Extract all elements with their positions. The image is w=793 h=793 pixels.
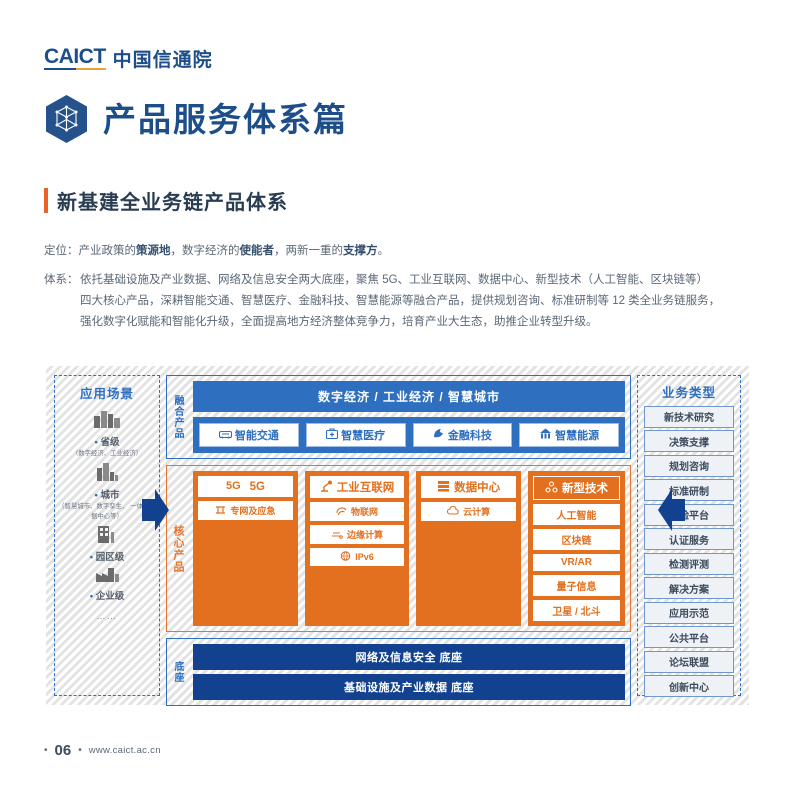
business-type-item[interactable]: 创新中心 [644,675,734,697]
core-item-label: 区块链 [561,532,591,547]
brand-abbr: CAICT [44,46,106,70]
edge-icon [331,529,343,541]
positioning-paragraph: 定位：产业政策的策源地，数字经济的使能者，两新一重的支撑方。 [44,241,389,262]
fusion-pill-label: 智慧医疗 [341,427,385,443]
core-item-label: 人工智能 [556,507,596,522]
core-column-header[interactable]: 5G 5G [198,476,293,497]
fusion-pill-fintech[interactable]: 金融科技 [413,423,513,447]
business-type-item[interactable]: 解决方案 [644,577,734,599]
business-type-item[interactable]: 新技术研究 [644,406,734,428]
central-stack: 融合产品 数字经济 / 工业经济 / 智慧城市 智能交通 智慧医疗 [166,375,631,696]
core-column-newtech: 新型技术 人工智能 区块链 VR/AR 量子信息 卫星 / 北斗 [528,471,625,626]
section-heading: 新基建全业务链产品体系 [44,186,288,215]
core-vertical-label: 核心产品 [167,466,188,631]
core-item[interactable]: 边缘计算 [310,525,405,544]
footer-url: www.caict.ac.cn [89,745,161,756]
business-type-item[interactable]: 公共平台 [644,626,734,648]
core-item[interactable]: 卫星 / 北斗 [533,600,620,621]
page-root: CAICT 中国信通院 产品服务体系篇 [0,0,793,793]
scenarios-title: 应用场景 [80,383,134,402]
scenario-name: 省级 [95,434,120,448]
core-item[interactable]: 物联网 [310,502,405,521]
fusion-pill-label: 智能交通 [235,427,279,443]
core-products-band: 核心产品 5G 5G 专网及应急 [166,465,631,632]
scenario-ellipsis: …… [97,611,118,621]
fusion-headline: 数字经济 / 工业经济 / 智慧城市 [193,381,625,412]
core-item-label: 边缘计算 [347,528,383,541]
business-types-title: 业务类型 [662,382,716,401]
core-item-label: 云计算 [463,505,490,518]
scenario-name: 园区级 [90,549,124,563]
positioning-text: 产业政策的策源地，数字经济的使能者，两新一重的支撑方。 [79,245,390,257]
fusion-pill-smart-transport[interactable]: 智能交通 [199,423,299,447]
scenario-name: 企业级 [90,588,124,602]
core-item-label: IPv6 [355,552,374,562]
svg-text:5G: 5G [226,480,241,491]
page-footer: • 06 • www.caict.ac.cn [44,742,161,759]
core-column-datacenter: 数据中心 云计算 [416,471,521,626]
system-line: 依托基础设施及产业数据、网络及信息安全两大底座，聚焦 5G、工业互联网、数据中心… [80,270,756,291]
core-item-label: 卫星 / 北斗 [552,603,600,618]
park-icon [95,524,119,547]
core-item-label: VR/AR [561,557,592,568]
business-type-item[interactable]: 应用示范 [644,602,734,624]
footer-bullet: • [78,745,82,756]
foundation-bar-security[interactable]: 网络及信息安全 底座 [193,644,625,670]
buildings-icon [93,408,121,432]
application-scenarios-column: 应用场景 省级 （数字经济、工业经济） 城市 （智慧城市、数字孪生、 一体化算据… [54,375,160,696]
footer-bullet: • [44,745,48,756]
server-icon [437,480,450,495]
nodes-icon [545,481,558,496]
core-column-header[interactable]: 工业互联网 [310,476,405,498]
scenario-item[interactable]: 企业级 [90,565,124,602]
business-type-item[interactable]: 检测评测 [644,553,734,575]
fusion-pill-smart-energy[interactable]: 智慧能源 [519,423,619,447]
core-item[interactable]: IPv6 [310,548,405,566]
system-line: 强化数字化赋能和智能化升级，全面提高地方经济整体竞争力，培育产业大生态，助推企业… [80,312,756,333]
core-item[interactable]: 区块链 [533,529,620,550]
business-type-item[interactable]: 规划咨询 [644,455,734,477]
core-column-title: 新型技术 [562,480,608,496]
fusion-pill-label: 金融科技 [448,427,492,443]
core-item-label: 物联网 [351,505,378,518]
scenario-item[interactable]: 园区级 [90,524,124,563]
system-line: 四大核心产品，深耕智能交通、智慧医疗、金融科技、智慧能源等融合产品，提供规划咨询… [80,291,756,312]
iot-icon [336,506,347,518]
fusion-products-band: 融合产品 数字经济 / 工业经济 / 智慧城市 智能交通 智慧医疗 [166,375,631,459]
core-item[interactable]: VR/AR [533,554,620,571]
fusion-vertical-label: 融合产品 [167,376,188,458]
section-heading-text: 新基建全业务链产品体系 [57,186,288,215]
core-column-title: 数据中心 [454,479,500,495]
core-item[interactable]: 云计算 [421,502,516,521]
foundation-vertical-label: 底座 [167,639,188,705]
car-icon [219,429,232,442]
cloud-icon [447,506,459,518]
ipv6-icon [340,551,351,563]
fusion-pill-row: 智能交通 智慧医疗 金融科技 智慧能源 [193,417,625,453]
system-label: 体系： [44,270,79,291]
5g-logo-icon: 5G [226,479,246,494]
business-type-item[interactable]: 决策支撑 [644,430,734,452]
core-column-5g: 5G 5G 专网及应急 [193,471,298,626]
scenario-name: 城市 [95,487,120,501]
core-column-title: 5G [250,481,265,493]
core-columns: 5G 5G 专网及应急 工业互联网 [193,471,625,626]
robot-arm-icon [320,480,333,495]
core-column-title: 工业互联网 [337,479,395,495]
core-column-iiot: 工业互联网 物联网 边缘计算 [305,471,410,626]
page-title-text: 产品服务体系篇 [103,103,348,136]
page-number: 06 [55,742,72,759]
scenario-sub: （数字经济、工业经济） [72,449,142,459]
foundation-band: 底座 网络及信息安全 底座 基础设施及产业数据 底座 [166,638,631,706]
medical-case-icon [326,428,338,442]
foundation-body: 网络及信息安全 底座 基础设施及产业数据 底座 [188,639,630,705]
fusion-pill-smart-health[interactable]: 智慧医疗 [306,423,406,447]
positioning-label: 定位： [44,245,79,257]
system-paragraph: 体系： 依托基础设施及产业数据、网络及信息安全两大底座，聚焦 5G、工业互联网、… [44,270,756,333]
core-item-label: 量子信息 [556,578,596,593]
cube-hexagon-icon [44,94,89,144]
core-body: 5G 5G 专网及应急 工业互联网 [188,466,630,631]
page-title: 产品服务体系篇 [44,94,348,144]
core-column-header[interactable]: 数据中心 [421,476,516,498]
scenario-item[interactable]: 省级 （数字经济、工业经济） [72,408,142,459]
brand-chinese-name: 中国信通院 [113,51,213,70]
business-types-column: 业务类型 新技术研究 决策支撑 规划咨询 标准研制 试验平台 认证服务 检测评测… [637,375,741,696]
architecture-diagram: 应用场景 省级 （数字经济、工业经济） 城市 （智慧城市、数字孪生、 一体化算据… [46,366,749,705]
fusion-body: 数字经济 / 工业经济 / 智慧城市 智能交通 智慧医疗 金融科技 [188,376,630,458]
energy-icon [539,428,552,442]
core-item[interactable]: 量子信息 [533,575,620,596]
network-icon [215,505,226,517]
core-item[interactable]: 人工智能 [533,504,620,525]
fusion-pill-label: 智慧能源 [555,427,599,443]
core-item-label: 专网及应急 [230,504,275,517]
brand-logo: CAICT 中国信通院 [44,46,213,70]
core-column-header[interactable]: 新型技术 [533,476,620,500]
finance-icon [433,428,445,442]
factory-icon [94,565,120,586]
business-type-item[interactable]: 论坛联盟 [644,651,734,673]
section-accent-bar [44,188,48,213]
city-icon [95,461,119,485]
core-item[interactable]: 专网及应急 [198,501,293,520]
foundation-bar-infrastructure[interactable]: 基础设施及产业数据 底座 [193,674,625,700]
